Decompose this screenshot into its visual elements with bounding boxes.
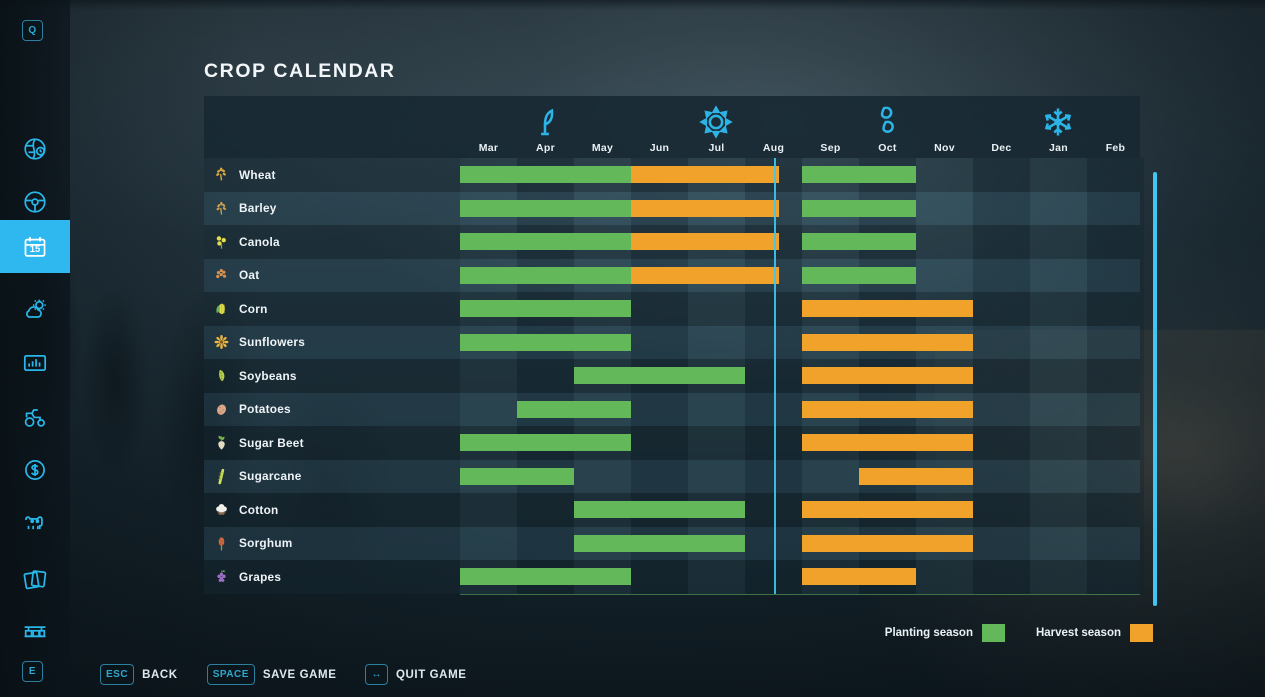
sidebar-item-calendar[interactable]: 15 [0, 220, 70, 273]
harvest-bar [802, 501, 973, 518]
month-label-nov: Nov [916, 142, 973, 154]
month-label-jan: Jan [1030, 142, 1087, 154]
top-fade [0, 0, 1265, 10]
cotton-icon [213, 501, 230, 518]
sidebar-item-statistics[interactable] [0, 336, 70, 389]
legend-harvest-label: Harvest season [1036, 627, 1121, 639]
planting-bar [460, 233, 631, 250]
crop-name: Sugar Beet [239, 436, 304, 450]
month-label-jun: Jun [631, 142, 688, 154]
planting-bar [802, 267, 916, 284]
planting-bar [574, 535, 745, 552]
crop-row[interactable]: Soybeans [204, 359, 1140, 393]
page-title: CROP CALENDAR [204, 60, 1164, 83]
calendar-day-badge: 15 [0, 220, 70, 273]
month-label-apr: Apr [517, 142, 574, 154]
planting-bar [460, 468, 574, 485]
crop-label-cell: Corn [204, 292, 460, 326]
month-label-may: May [574, 142, 631, 154]
harvest-bar [631, 233, 779, 250]
crop-row[interactable]: Canola [204, 225, 1140, 259]
harvest-bar [802, 535, 973, 552]
action-quit-game[interactable]: ↔QUIT GAME [365, 664, 466, 685]
grid-underline [460, 594, 1140, 595]
calendar-grid: WheatBarleyCanolaOatCornSunflowersSoybea… [204, 158, 1140, 594]
harvest-bar [631, 200, 779, 217]
harvest-bar [802, 401, 973, 418]
keycap: ESC [100, 664, 134, 685]
planting-bar [574, 501, 745, 518]
keycap: SPACE [207, 664, 255, 685]
legend: Planting season Harvest season [885, 624, 1153, 642]
crop-name: Wheat [239, 168, 276, 182]
dollar-icon [22, 457, 48, 483]
crop-name: Soybeans [239, 369, 297, 383]
sorghum-icon [213, 535, 230, 552]
sidebar-item-finances[interactable] [0, 443, 70, 496]
month-label-sep: Sep [802, 142, 859, 154]
harvest-bar [802, 434, 973, 451]
crop-calendar-panel: CROP CALENDAR MarAprMayJunJulAugSepOctNo… [204, 60, 1164, 620]
crop-row[interactable]: Oat [204, 259, 1140, 293]
crop-label-cell: Sorghum [204, 527, 460, 561]
crop-row[interactable]: Grapes [204, 560, 1140, 594]
weather-icon [22, 296, 48, 322]
crop-name: Potatoes [239, 402, 291, 416]
planting-bar [460, 166, 631, 183]
month-label-jul: Jul [688, 142, 745, 154]
crop-label-cell: Wheat [204, 158, 460, 192]
sun-icon [698, 104, 736, 142]
planting-bar [460, 300, 631, 317]
harvest-bar [631, 166, 779, 183]
action-save-game[interactable]: SPACESAVE GAME [207, 664, 337, 685]
crop-label-cell: Sunflowers [204, 326, 460, 360]
crop-row[interactable]: Sugar Beet [204, 426, 1140, 460]
planting-bar [460, 434, 631, 451]
crop-name: Sorghum [239, 536, 293, 550]
harvest-bar [802, 334, 973, 351]
month-label-feb: Feb [1087, 142, 1144, 154]
cow-icon [22, 510, 48, 536]
sidebar-nav: 15 [0, 0, 70, 697]
scrollbar[interactable] [1153, 172, 1157, 606]
production-icon [22, 618, 48, 644]
crop-label-cell: Soybeans [204, 359, 460, 393]
scrollbar-thumb[interactable] [1153, 172, 1157, 606]
canola-icon [213, 233, 230, 250]
key-hint-q[interactable]: Q [22, 20, 43, 41]
legend-harvest-swatch [1130, 624, 1153, 642]
month-label-dec: Dec [973, 142, 1030, 154]
planting-bar [802, 233, 916, 250]
action-label: BACK [142, 669, 178, 681]
harvest-bar [631, 267, 779, 284]
harvest-bar [802, 300, 973, 317]
barley-icon [213, 200, 230, 217]
crop-name: Barley [239, 201, 277, 215]
sidebar-item-production[interactable] [0, 604, 70, 657]
harvest-bar [802, 367, 973, 384]
crop-label-cell: Cotton [204, 493, 460, 527]
crop-row[interactable]: Potatoes [204, 393, 1140, 427]
crop-row[interactable]: Sugarcane [204, 460, 1140, 494]
steering-wheel-icon [22, 189, 48, 215]
sugarbeet-icon [213, 434, 230, 451]
harvest-bar [859, 468, 973, 485]
bar-chart-icon [22, 350, 48, 376]
keycap-e: E [22, 661, 43, 682]
action-label: SAVE GAME [263, 669, 337, 681]
planting-bar [802, 166, 916, 183]
crop-row[interactable]: Wheat [204, 158, 1140, 192]
crop-row[interactable]: Sorghum [204, 527, 1140, 561]
corn-icon [213, 300, 230, 317]
keycap: ↔ [365, 664, 388, 685]
snowflake-icon [1040, 104, 1078, 142]
month-label-mar: Mar [460, 142, 517, 154]
crop-name: Oat [239, 268, 259, 282]
leaf-fall-icon [869, 104, 907, 142]
crop-row[interactable]: Barley [204, 192, 1140, 226]
sidebar-item-animals[interactable] [0, 496, 70, 549]
month-label-aug: Aug [745, 142, 802, 154]
planting-bar [517, 401, 631, 418]
crop-name: Corn [239, 302, 268, 316]
crop-row[interactable]: Cotton [204, 493, 1140, 527]
planting-bar [574, 367, 745, 384]
keycap-q: Q [22, 20, 43, 41]
planting-bar [460, 267, 631, 284]
month-label-oct: Oct [859, 142, 916, 154]
sidebar-item-weather[interactable] [0, 282, 70, 335]
harvest-bar [802, 568, 916, 585]
planting-bar [460, 334, 631, 351]
crop-label-cell: Barley [204, 192, 460, 226]
legend-planting-swatch [982, 624, 1005, 642]
sprout-icon [527, 104, 565, 142]
action-label: QUIT GAME [396, 669, 467, 681]
calendar-header: MarAprMayJunJulAugSepOctNovDecJanFeb [204, 96, 1140, 158]
current-date-marker [774, 158, 776, 594]
documents-icon [22, 566, 48, 592]
crop-name: Cotton [239, 503, 279, 517]
sidebar-item-machines[interactable] [0, 390, 70, 443]
sunflower-icon [213, 334, 230, 351]
crop-label-cell: Oat [204, 259, 460, 293]
planting-bar [460, 568, 631, 585]
crop-name: Sugarcane [239, 469, 302, 483]
action-bar: ESCBACKSPACESAVE GAME↔QUIT GAME [100, 664, 485, 685]
crop-name: Sunflowers [239, 335, 305, 349]
crop-row[interactable]: Corn [204, 292, 1140, 326]
planting-bar [460, 200, 631, 217]
tractor-icon [22, 404, 48, 430]
key-hint-e[interactable]: E [22, 661, 43, 682]
action-back[interactable]: ESCBACK [100, 664, 178, 685]
sugarcane-icon [213, 468, 230, 485]
sidebar-item-map[interactable] [0, 122, 70, 175]
crop-label-cell: Potatoes [204, 393, 460, 427]
soybean-icon [213, 367, 230, 384]
crop-row[interactable]: Sunflowers [204, 326, 1140, 360]
crop-label-cell: Grapes [204, 560, 460, 594]
crop-label-cell: Sugarcane [204, 460, 460, 494]
crop-name: Canola [239, 235, 280, 249]
potato-icon [213, 401, 230, 418]
crop-label-cell: Sugar Beet [204, 426, 460, 460]
crop-name: Grapes [239, 570, 281, 584]
grapes-icon [213, 568, 230, 585]
wheat-icon [213, 166, 230, 183]
legend-planting-label: Planting season [885, 627, 973, 639]
crop-label-cell: Canola [204, 225, 460, 259]
sidebar-item-contracts[interactable] [0, 552, 70, 605]
oat-icon [213, 267, 230, 284]
globe-icon [22, 136, 48, 162]
planting-bar [802, 200, 916, 217]
